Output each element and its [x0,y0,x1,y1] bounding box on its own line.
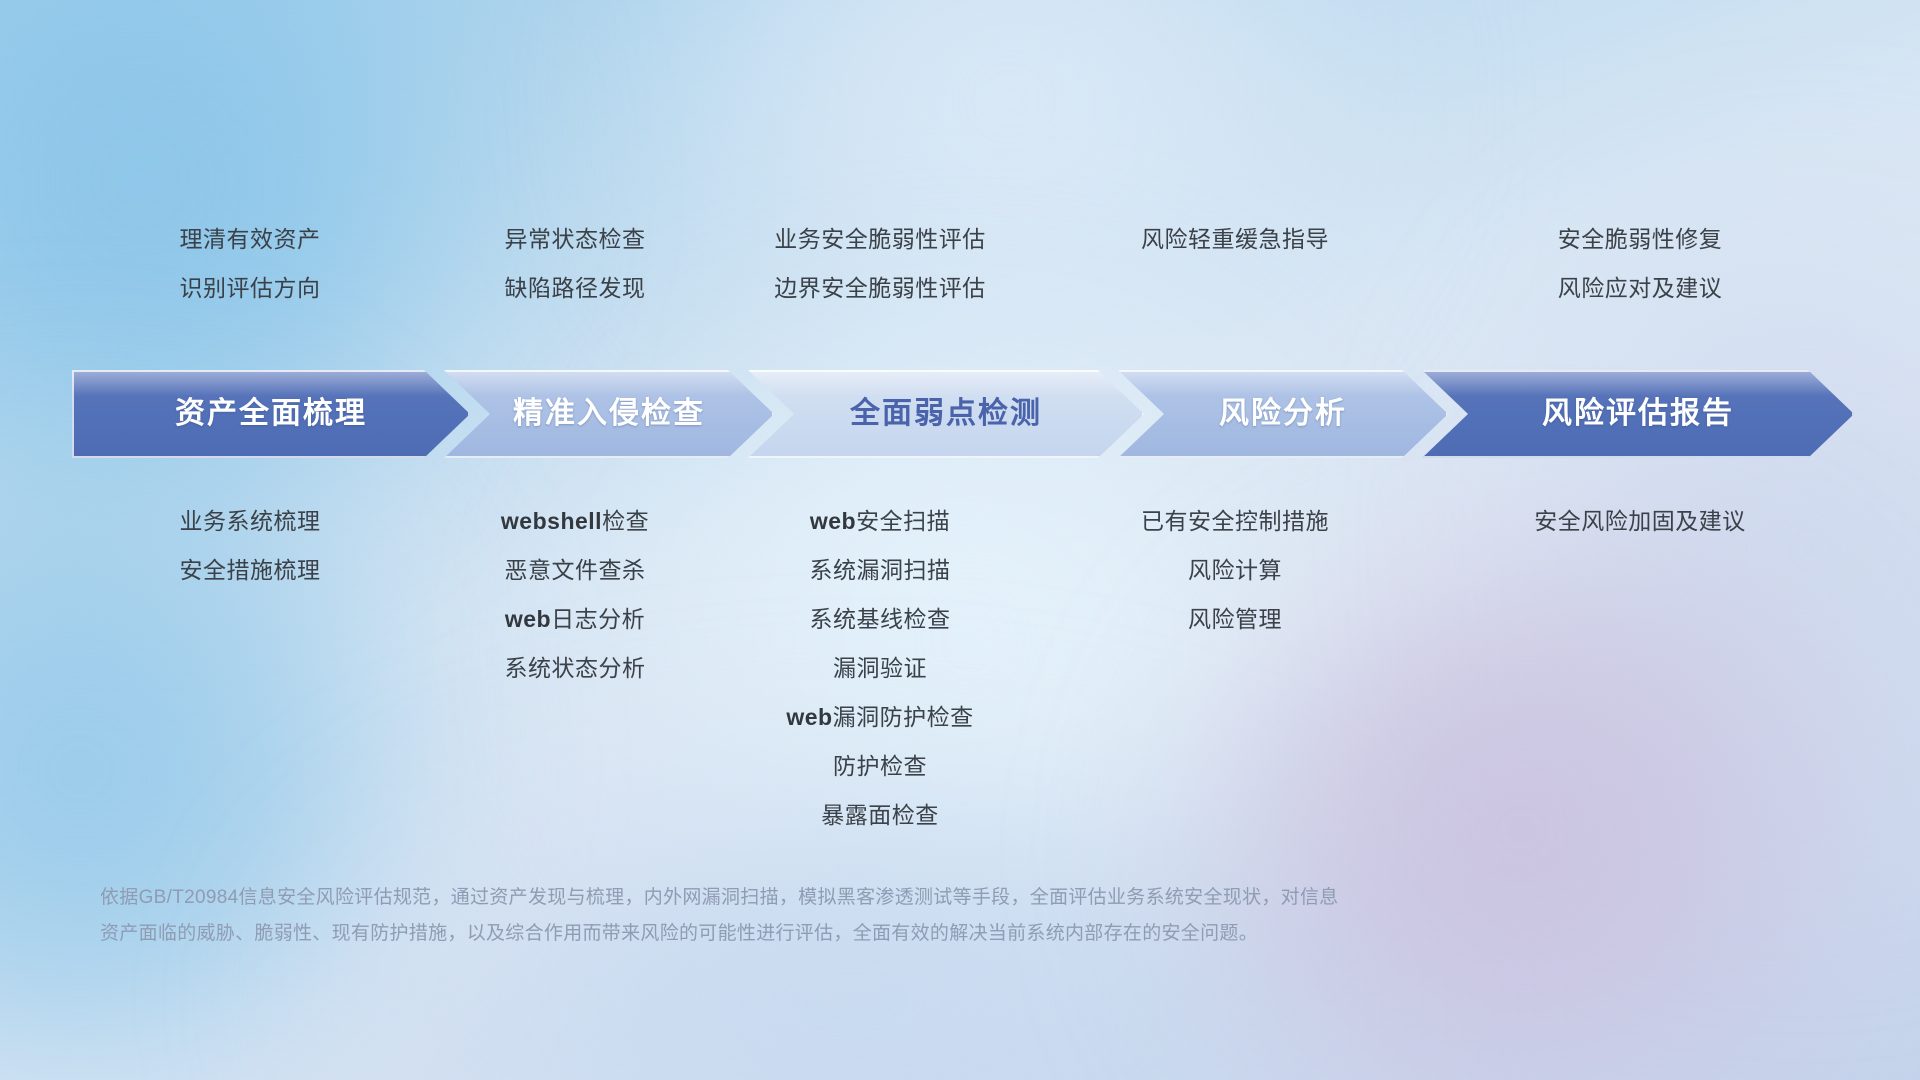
footer-description: 依据GB/T20984信息安全风险评估规范，通过资产发现与梳理，内外网漏洞扫描，… [100,880,1620,952]
footer-line: 依据GB/T20984信息安全风险评估规范，通过资产发现与梳理，内外网漏洞扫描，… [100,880,1620,916]
arrow-sheen [1118,370,1448,396]
stage-arrow-intrusion-check[interactable]: 精准入侵检查 [444,370,774,458]
below-item: webshell检查 [501,510,649,533]
below-item: 恶意文件查杀 [505,559,646,582]
above-group-risk-analysis: 风险轻重缓急指导 [1050,228,1420,251]
stage-arrow-label: 风险分析 [1118,399,1448,429]
stage-arrow-risk-report[interactable]: 风险评估报告 [1422,370,1854,458]
above-item: 风险应对及建议 [1558,277,1723,300]
above-item: 业务安全脆弱性评估 [774,228,986,251]
above-item: 识别评估方向 [180,277,321,300]
below-item: 暴露面检查 [821,804,939,827]
below-item: 安全措施梳理 [180,559,321,582]
below-item: 安全风险加固及建议 [1534,510,1746,533]
stage-arrow-risk-analysis[interactable]: 风险分析 [1118,370,1448,458]
below-item: 防护检查 [833,755,927,778]
stage-arrow-weakness-detection[interactable]: 全面弱点检测 [748,370,1144,458]
below-item: 系统基线检查 [810,608,951,631]
above-item: 异常状态检查 [505,228,646,251]
arrow-sheen [1422,370,1854,396]
stage-arrow-label: 全面弱点检测 [748,399,1144,429]
above-item: 缺陷路径发现 [505,277,646,300]
below-item: 风险管理 [1188,608,1282,631]
above-group-intrusion-check: 异常状态检查 缺陷路径发现 [440,228,710,300]
below-item: 漏洞验证 [833,657,927,680]
process-arrow-banner: 资产全面梳理 精准入侵检查 全面弱点检测 [72,370,1854,458]
above-group-weakness-detection: 业务安全脆弱性评估 边界安全脆弱性评估 [710,228,1050,300]
below-item: 系统漏洞扫描 [810,559,951,582]
below-group-intrusion-check: webshell检查 恶意文件查杀 web日志分析 系统状态分析 [440,510,710,680]
stage-below-labels-row: 业务系统梳理 安全措施梳理 webshell检查 恶意文件查杀 web日志分析 … [60,510,1860,827]
footer-line: 资产面临的威胁、脆弱性、现有防护措施，以及综合作用而带来风险的可能性进行评估，全… [100,916,1620,952]
arrow-sheen [748,370,1144,396]
above-item: 风险轻重缓急指导 [1141,228,1329,251]
slide-canvas: 理清有效资产 识别评估方向 异常状态检查 缺陷路径发现 业务安全脆弱性评估 边界… [0,0,1920,1080]
above-group-risk-report: 安全脆弱性修复 风险应对及建议 [1420,228,1860,300]
stage-arrow-label: 资产全面梳理 [72,399,470,429]
stage-arrow-label: 精准入侵检查 [444,399,774,429]
above-group-asset-inventory: 理清有效资产 识别评估方向 [60,228,440,300]
below-group-weakness-detection: web安全扫描 系统漏洞扫描 系统基线检查 漏洞验证 web漏洞防护检查 防护检… [710,510,1050,827]
below-group-risk-analysis: 已有安全控制措施 风险计算 风险管理 [1050,510,1420,631]
below-item: 业务系统梳理 [180,510,321,533]
below-item: 已有安全控制措施 [1141,510,1329,533]
stage-arrow-asset-inventory[interactable]: 资产全面梳理 [72,370,470,458]
below-item: web漏洞防护检查 [786,706,973,729]
below-item: web安全扫描 [810,510,950,533]
stage-above-labels-row: 理清有效资产 识别评估方向 异常状态检查 缺陷路径发现 业务安全脆弱性评估 边界… [60,228,1860,300]
arrow-sheen [444,370,774,396]
diagram-content: 理清有效资产 识别评估方向 异常状态检查 缺陷路径发现 业务安全脆弱性评估 边界… [0,0,1920,1080]
above-item: 边界安全脆弱性评估 [774,277,986,300]
arrow-sheen [72,370,470,396]
below-item: web日志分析 [505,608,645,631]
below-group-risk-report: 安全风险加固及建议 [1420,510,1860,533]
above-item: 安全脆弱性修复 [1558,228,1723,251]
below-item: 风险计算 [1188,559,1282,582]
below-item: 系统状态分析 [505,657,646,680]
above-item: 理清有效资产 [180,228,321,251]
below-group-asset-inventory: 业务系统梳理 安全措施梳理 [60,510,440,582]
stage-arrow-label: 风险评估报告 [1422,399,1854,429]
